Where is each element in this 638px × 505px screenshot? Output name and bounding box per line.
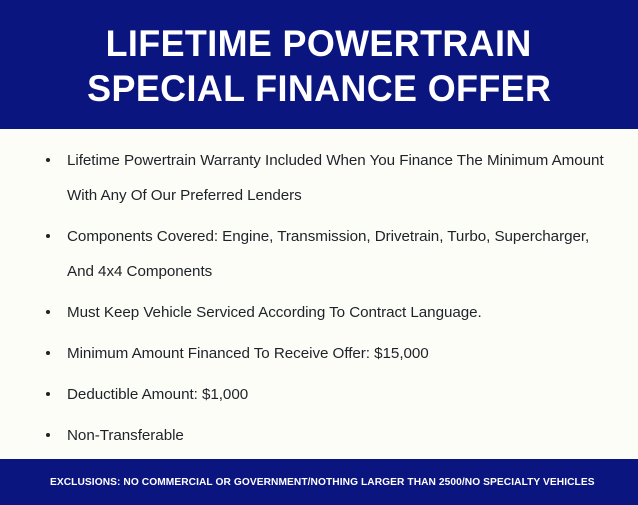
list-item: Deductible Amount: $1,000 xyxy=(28,377,624,412)
list-item: Components Covered: Engine, Transmission… xyxy=(28,219,624,289)
page-title-line-1: LIFETIME POWERTRAIN xyxy=(106,21,532,66)
bullet-dot-icon xyxy=(46,433,50,437)
exclusions-note: EXCLUSIONS: NO COMMERCIAL OR GOVERNMENT/… xyxy=(50,477,595,488)
list-item: Non-Transferable xyxy=(28,418,624,453)
list-item-label: Components Covered: Engine, Transmission… xyxy=(67,219,624,289)
slide-header: LIFETIME POWERTRAIN SPECIAL FINANCE OFFE… xyxy=(0,0,638,129)
list-item-label: Minimum Amount Financed To Receive Offer… xyxy=(67,336,624,371)
list-item-label: Must Keep Vehicle Serviced According To … xyxy=(67,295,624,330)
page-title-line-2: SPECIAL FINANCE OFFER xyxy=(87,66,551,111)
list-item: Lifetime Powertrain Warranty Included Wh… xyxy=(28,143,624,213)
offer-details-list: Lifetime Powertrain Warranty Included Wh… xyxy=(14,143,624,453)
list-item: Must Keep Vehicle Serviced According To … xyxy=(28,295,624,330)
slide-body: Lifetime Powertrain Warranty Included Wh… xyxy=(0,129,638,459)
bullet-dot-icon xyxy=(46,310,50,314)
list-item: Minimum Amount Financed To Receive Offer… xyxy=(28,336,624,371)
list-item-label: Lifetime Powertrain Warranty Included Wh… xyxy=(67,143,624,213)
list-item-label: Deductible Amount: $1,000 xyxy=(67,377,624,412)
bullet-dot-icon xyxy=(46,234,50,238)
list-item-label: Non-Transferable xyxy=(67,418,624,453)
bullet-dot-icon xyxy=(46,158,50,162)
slide-footer: EXCLUSIONS: NO COMMERCIAL OR GOVERNMENT/… xyxy=(0,459,638,505)
offer-slide: LIFETIME POWERTRAIN SPECIAL FINANCE OFFE… xyxy=(0,0,638,479)
bullet-dot-icon xyxy=(46,392,50,396)
bullet-dot-icon xyxy=(46,351,50,355)
